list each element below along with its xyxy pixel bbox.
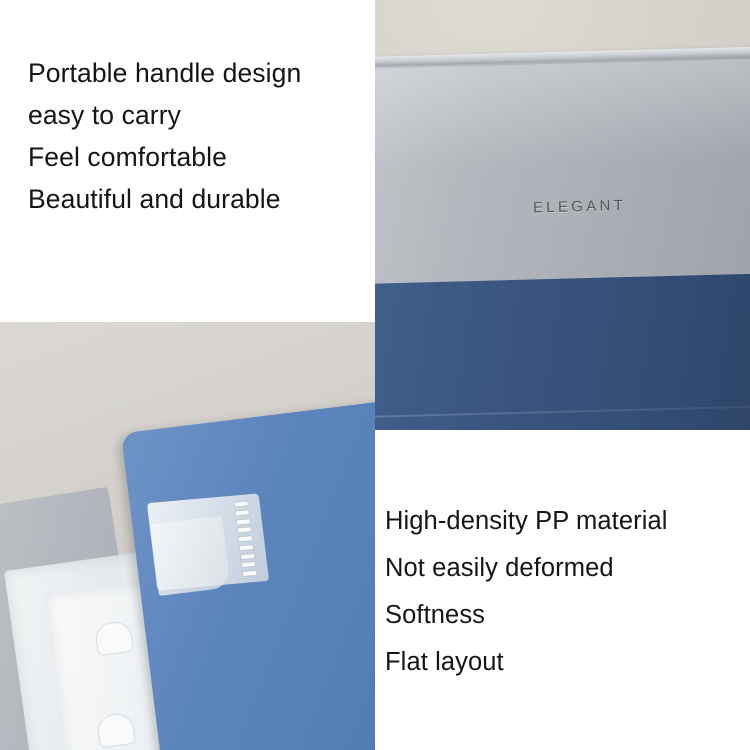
feature-line: easy to carry bbox=[28, 94, 373, 136]
carrying-case-photo: Elegant EW 合格证 bbox=[375, 0, 750, 430]
index-tick bbox=[236, 526, 252, 533]
index-tick bbox=[233, 500, 249, 507]
material-feature-list: High-density PP material Not easily defo… bbox=[385, 498, 750, 686]
feature-line: Flat layout bbox=[385, 639, 750, 686]
brand-logo-text: Elegant bbox=[533, 192, 627, 218]
numbered-index-strip bbox=[147, 493, 269, 590]
index-tick bbox=[242, 570, 258, 577]
feature-line: Beautiful and durable bbox=[28, 178, 373, 220]
case-navy-body bbox=[375, 273, 750, 430]
top-left-text-pane: Portable handle design easy to carry Fee… bbox=[0, 0, 375, 322]
bottom-right-text-pane: High-density PP material Not easily defo… bbox=[375, 430, 750, 750]
feature-line: Portable handle design bbox=[28, 52, 373, 94]
feature-line: High-density PP material bbox=[385, 498, 750, 545]
case-silver-lid: Elegant bbox=[375, 46, 750, 293]
body-seam-line bbox=[375, 405, 750, 418]
handle-feature-list: Portable handle design easy to carry Fee… bbox=[28, 52, 373, 220]
lid-highlight bbox=[375, 58, 750, 189]
index-tick bbox=[240, 552, 256, 559]
index-tick bbox=[239, 544, 255, 551]
index-tick bbox=[235, 518, 251, 525]
index-tick bbox=[238, 535, 254, 542]
feature-line: Not easily deformed bbox=[385, 545, 750, 592]
feature-line: Softness bbox=[385, 592, 750, 639]
index-tick bbox=[234, 509, 250, 516]
product-feature-collage: Portable handle design easy to carry Fee… bbox=[0, 0, 750, 750]
index-tick-row bbox=[233, 500, 260, 577]
feature-line: Feel comfortable bbox=[28, 136, 373, 178]
open-folder-photo bbox=[0, 322, 375, 750]
index-tick bbox=[241, 561, 257, 568]
